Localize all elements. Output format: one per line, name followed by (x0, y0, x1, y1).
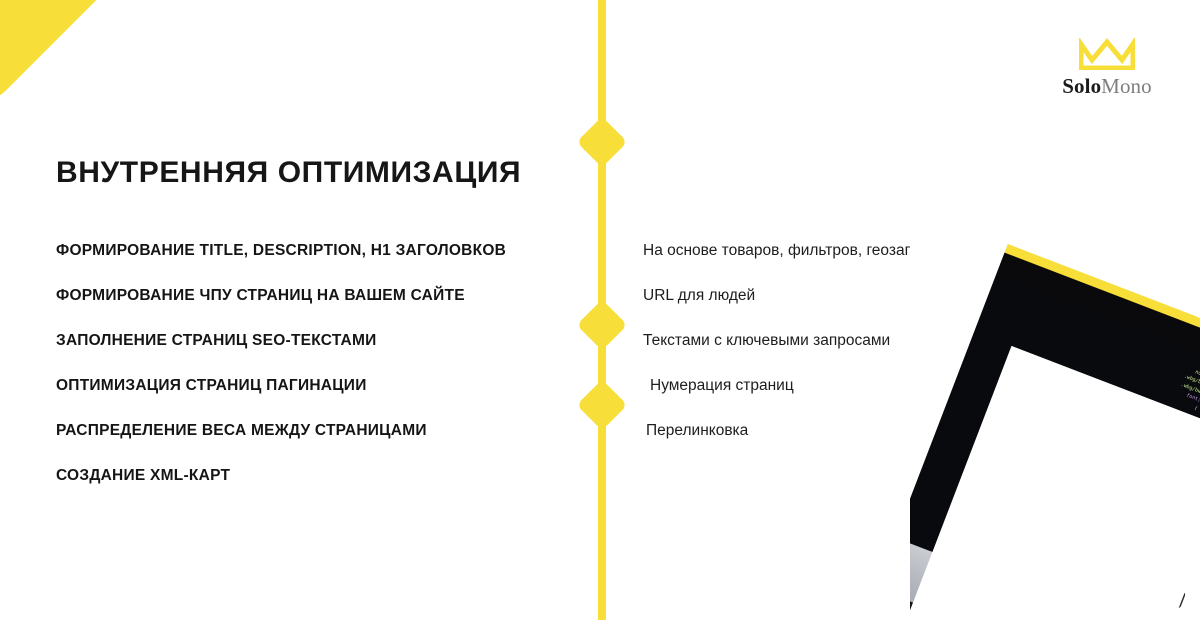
list-item: ОПТИМИЗАЦИЯ СТРАНИЦ ПАГИНАЦИИ (56, 363, 586, 408)
slide-root: SoloMono ВНУТРЕННЯЯ ОПТИМИЗАЦИЯ ФОРМИРОВ… (0, 0, 1200, 620)
list-item: ЗАПОЛНЕНИЕ СТРАНИЦ SEO-ТЕКСТАМИ (56, 318, 586, 363)
vertical-divider (598, 0, 606, 620)
laptop-photo-inner: }norm;.wbg/bw;.wbg/bw;font;( \* -webc su… (910, 200, 1200, 620)
page-title: ВНУТРЕННЯЯ ОПТИМИЗАЦИЯ (56, 156, 521, 190)
brand-name-primary: Solo (1062, 74, 1101, 98)
list-item: СОЗДАНИЕ XML-КАРТ (56, 453, 586, 498)
tasks-list: ФОРМИРОВАНИЕ TITLE, DESCRIPTION, H1 ЗАГО… (56, 228, 586, 498)
brand-name: SoloMono (1042, 76, 1172, 97)
list-item: ФОРМИРОВАНИЕ ЧПУ СТРАНИЦ НА ВАШЕМ САЙТЕ (56, 273, 586, 318)
brand-name-secondary: Mono (1101, 74, 1152, 98)
list-item: РАСПРЕДЕЛЕНИЕ ВЕСА МЕЖДУ СТРАНИЦАМИ (56, 408, 586, 453)
laptop-photo: }norm;.wbg/bw;.wbg/bw;font;( \* -webc su… (910, 200, 1200, 620)
divider-diamond-node (577, 117, 628, 168)
list-item: ФОРМИРОВАНИЕ TITLE, DESCRIPTION, H1 ЗАГО… (56, 228, 586, 273)
crown-icon (1079, 38, 1135, 70)
corner-diamond-decoration (0, 0, 121, 109)
brand-logo: SoloMono (1042, 38, 1172, 97)
